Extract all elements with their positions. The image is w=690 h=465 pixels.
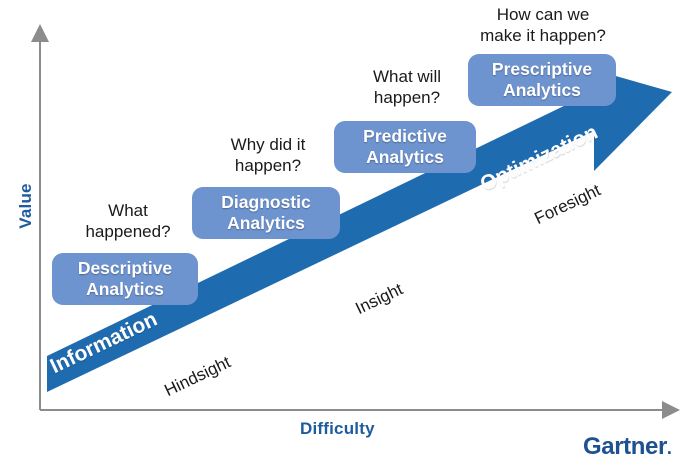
question-diagnostic-line1: Why did it (207, 134, 329, 155)
stage-box-prescriptive-line2: Analytics (503, 80, 581, 101)
question-prescriptive-line1: How can we (468, 4, 618, 25)
stage-box-descriptive-line1: Descriptive (78, 258, 172, 279)
stage-box-predictive-analytics[interactable]: Predictive Analytics (334, 121, 476, 173)
question-diagnostic: Why did it happen? (207, 134, 329, 176)
question-predictive-line2: happen? (348, 87, 466, 108)
question-predictive-line1: What will (348, 66, 466, 87)
stage-box-diagnostic-line1: Diagnostic (221, 192, 310, 213)
analytics-ascendancy-diagram: Value Difficulty Information Optimizatio… (0, 0, 690, 465)
gartner-logo-text: Gartner (583, 433, 667, 460)
gartner-logo-dot: . (667, 438, 672, 458)
stage-box-predictive-line2: Analytics (366, 147, 444, 168)
stage-box-prescriptive-analytics[interactable]: Prescriptive Analytics (468, 54, 616, 106)
gartner-logo: Gartner. (583, 433, 672, 461)
stage-box-predictive-line1: Predictive (363, 126, 447, 147)
stage-box-diagnostic-line2: Analytics (227, 213, 305, 234)
stage-box-descriptive-analytics[interactable]: Descriptive Analytics (52, 253, 198, 305)
question-predictive: What will happen? (348, 66, 466, 108)
stage-box-prescriptive-line1: Prescriptive (492, 59, 592, 80)
question-descriptive: What happened? (68, 200, 188, 242)
question-prescriptive-line2: make it happen? (468, 25, 618, 46)
question-descriptive-line2: happened? (68, 221, 188, 242)
question-prescriptive: How can we make it happen? (468, 4, 618, 46)
question-diagnostic-line2: happen? (207, 155, 329, 176)
stage-box-descriptive-line2: Analytics (86, 279, 164, 300)
question-descriptive-line1: What (68, 200, 188, 221)
stage-box-diagnostic-analytics[interactable]: Diagnostic Analytics (192, 187, 340, 239)
